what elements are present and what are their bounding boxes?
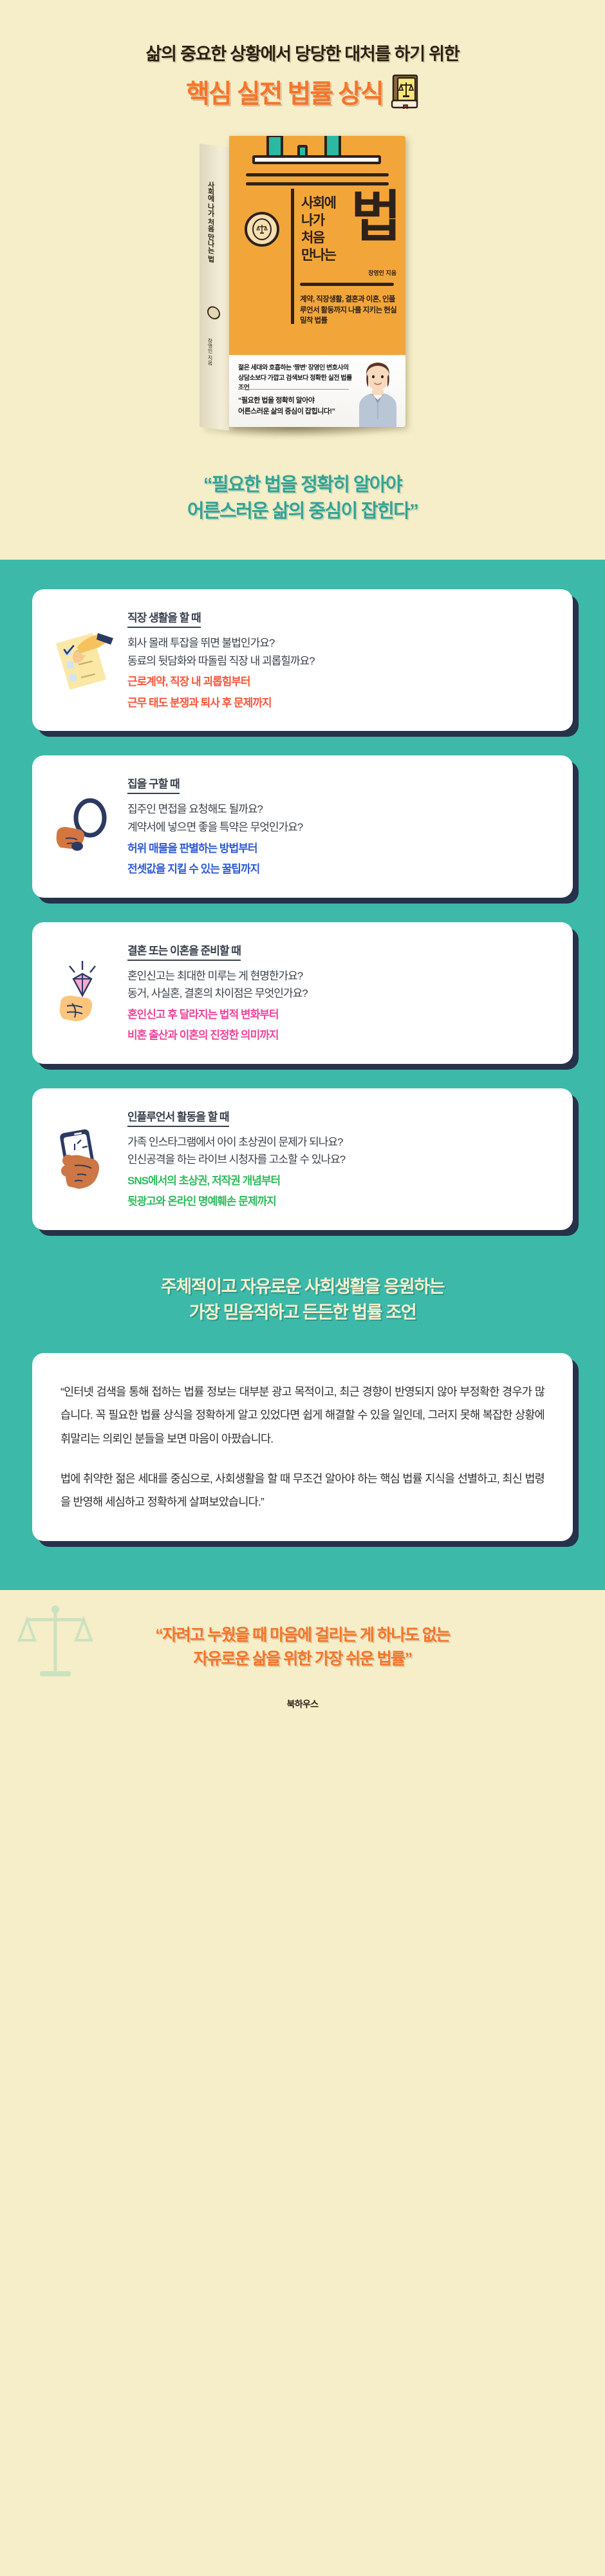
book-front-cover: 사회에 나가 처음 만나는 법 장영인 지음 계약, 직장생활, 결혼과 이혼,… [229,136,405,427]
band-quote-line-2: 어른스러운 삶의 중심이 잡힙니다!” [238,406,354,417]
cover-title-line-1: 사회에 [301,195,353,213]
author-paragraph-1: “인터넷 검색을 통해 접하는 법률 정보는 대부분 광고 목적이고, 최근 경… [60,1380,544,1450]
card-heading: 결혼 또는 이혼을 준비할 때 [127,942,241,961]
band-line-2: 상담소보다 가깝고 검색보다 정확한 실전 법률 조언 [238,374,357,393]
footer-quote: “자려고 누웠을 때 마음에 걸리는 게 하나도 없는 자유로운 삶을 위한 가… [0,1624,605,1672]
footer-section: “자려고 누웠을 때 마음에 걸리는 게 하나도 없는 자유로운 삶을 위한 가… [0,1590,605,1732]
cover-title-line-4: 만나는 [301,247,353,265]
topic-card-workplace: 직장 생활을 할 때 회사 몰래 투잡을 뛰면 불법인가요? 동료의 뒷담화와 … [32,589,573,731]
book-mockup: 사회에 나가 처음 만나는 법 장영인 지음 [200,132,405,435]
topics-section: 직장 생활을 할 때 회사 몰래 투잡을 뛰면 불법인가요? 동료의 뒷담화와 … [0,560,605,1589]
topic-card-housing: 집을 구할 때 집주인 면접을 요청해도 될까요? 계약서에 넣으면 좋을 특약… [32,755,573,897]
cover-author: 장영인 지음 [368,269,396,277]
hero-quote-line-2: 어른스러운 삶의 중심이 잡힌다” [0,498,605,525]
bottom-headline-line-2: 가장 믿음직하고 든든한 법률 조언 [0,1300,605,1326]
card-heading: 직장 생활을 할 때 [127,609,201,628]
card-highlight: 뒷광고와 온라인 명예훼손 문제까지 [127,1193,554,1211]
cover-subtitle: 계약, 직장생활, 결혼과 이혼, 인플루언서 활동까지 나를 지키는 현실밀착… [300,294,400,327]
card-question: 회사 몰래 투잡을 뛰면 불법인가요? [127,634,554,652]
footer-quote-line-1: “자려고 누웠을 때 마음에 걸리는 게 하나도 없는 [0,1624,605,1648]
card-question: 인신공격을 하는 라이브 시청자를 고소할 수 있나요? [127,1151,554,1169]
book-bookmarks [229,136,405,163]
book-spine-seal-icon [207,305,220,321]
bottom-headline: 주체적이고 자유로운 사회생활을 응원하는 가장 믿음직하고 든든한 법률 조언 [0,1255,605,1330]
checklist-pen-icon [49,625,118,695]
book-spine-author: 장영인 지음 [207,337,214,366]
book-obi-band: 젊은 세대와 호흡하는 '짱변' 장영인 변호사의 상담소보다 가깝고 검색보다… [229,355,405,427]
card-highlight: 비혼 출산과 이혼의 진정한 의미까지 [127,1027,554,1045]
footer-quote-line-2: 자유로운 삶을 위한 가장 쉬운 법률” [0,1647,605,1672]
cover-rule-1 [246,173,389,176]
card-question: 동료의 뒷담화와 따돌림 직장 내 괴롭힐까요? [127,652,554,670]
card-highlight: SNS에서의 초상권, 저작권 개념부터 [127,1172,554,1190]
magnifying-glass-hand-icon [49,792,118,862]
page-title: 핵심 실전 법률 상식 [186,73,383,110]
card-heading: 집을 구할 때 [127,775,180,794]
hero-quote-line-1: “필요한 법을 정확히 알아야 [0,472,605,498]
card-question: 가족 인스타그램에서 아이 초상권이 문제가 되나요? [127,1133,554,1151]
card-highlight: 근무 태도 분쟁과 퇴사 후 문제까지 [127,694,554,712]
smartphone-hand-icon [49,1124,118,1194]
header-title-row: 핵심 실전 법률 상식 [0,73,605,110]
card-highlight: 전셋값을 지킬 수 있는 꿀팁까지 [127,860,554,878]
publisher-logo: 북하우스 [0,1698,605,1710]
cover-big-word: 법 [351,193,399,242]
header-section: 삶의 중요한 상황에서 당당한 대처를 하기 위한 핵심 실전 법률 상식 사회… [0,0,605,560]
scales-icon [256,223,268,236]
cover-underline [300,283,394,286]
card-heading: 인플루언서 활동을 할 때 [127,1108,229,1127]
card-question: 계약서에 넣으면 좋을 특약은 무엇인가요? [127,819,554,837]
cover-title-line-2: 나가 [301,213,353,230]
card-question: 집주인 면접을 요청해도 될까요? [127,800,554,819]
author-paragraph-2: 법에 취약한 젊은 세대를 중심으로, 사회생활을 할 때 무조건 알아야 하는… [60,1467,544,1514]
lawyer-portrait-photo [353,357,403,427]
cover-divider [291,189,294,324]
band-quote: “필요한 법을 정확히 알아야 어른스러운 삶의 중심이 잡힙니다!” [238,395,354,417]
book-spine-title: 사회에 나가 처음 만나는 법 [205,180,216,263]
card-highlight: 근로계약, 직장 내 괴롭힘부터 [127,673,554,691]
law-book-scales-icon [389,74,419,109]
bookmark-tab-2 [297,145,308,158]
bottom-headline-line-1: 주체적이고 자유로운 사회생활을 응원하는 [0,1274,605,1300]
card-highlight: 허위 매물을 판별하는 방법부터 [127,840,554,858]
bookmark-tab-1 [266,136,283,158]
scales-of-justice-seal-icon [245,212,279,247]
cover-title-line-3: 처음 [301,230,353,247]
band-line-1: 젊은 세대와 호흡하는 '짱변' 장영인 변호사의 [238,363,357,374]
topic-card-marriage: 결혼 또는 이혼을 준비할 때 혼인신고는 최대한 미루는 게 현명한가요? 동… [32,922,573,1064]
header-kicker: 삶의 중요한 상황에서 당당한 대처를 하기 위한 [0,0,605,65]
band-divider [239,389,349,390]
hero-teal-quote: “필요한 법을 정확히 알아야 어른스러운 삶의 중심이 잡힌다” [0,472,605,525]
card-highlight: 혼인신고 후 달라지는 법적 변화부터 [127,1006,554,1024]
cover-rule-2 [246,182,389,185]
card-question: 혼인신고는 최대한 미루는 게 현명한가요? [127,967,554,985]
diamond-ring-hand-icon [49,958,118,1028]
bookmark-tab-3 [324,136,341,158]
seal-inner-ring [252,218,272,240]
cover-title: 사회에 나가 처음 만나는 [301,195,353,265]
topic-card-influencer: 인플루언서 활동을 할 때 가족 인스타그램에서 아이 초상권이 문제가 되나요… [32,1088,573,1230]
band-quote-line-1: “필요한 법을 정확히 알아야 [238,395,354,406]
author-statement-card: “인터넷 검색을 통해 접하는 법률 정보는 대부분 광고 목적이고, 최근 경… [32,1353,573,1541]
card-question: 동거, 사실혼, 결혼의 차이점은 무엇인가요? [127,985,554,1003]
book-spine: 사회에 나가 처음 만나는 법 장영인 지음 [200,144,229,431]
